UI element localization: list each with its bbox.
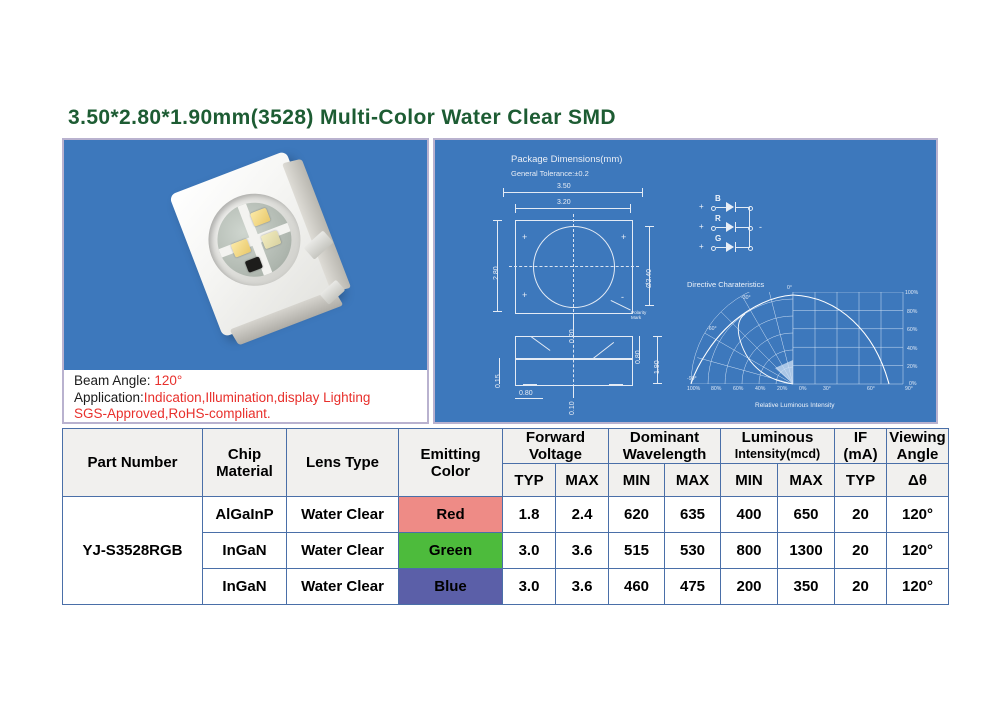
polar-pct-0-right: 0% — [909, 381, 917, 387]
cell-chip-material: AlGaInP — [203, 497, 287, 533]
beam-angle-value: 120° — [154, 373, 182, 388]
dim-tick-dia-top — [645, 226, 654, 227]
drawing-tolerance: General Tolerance:±0.2 — [511, 169, 589, 178]
cell-emitting-color: Green — [399, 533, 503, 569]
dim-value-0-15: 0.15 — [495, 374, 502, 388]
cell-vf-max: 3.6 — [556, 533, 609, 569]
side-foot-right — [609, 384, 623, 385]
cell-vf-typ: 1.8 — [503, 497, 556, 533]
dim-value-0-80-bottom: 0.80 — [519, 390, 533, 397]
dim-line-3-20 — [515, 208, 631, 209]
application-line: Application:Indication,Illumination,disp… — [74, 390, 427, 407]
th-luminous-intensity-l2: Intensity(mcd) — [721, 446, 834, 463]
led-photo-inner — [64, 140, 427, 370]
th-viewing-angle-l2: Angle — [887, 446, 948, 463]
th-luminous-intensity-l1: Luminous — [721, 429, 834, 446]
table-row: YJ-S3528RGB AlGaInP Water Clear Red 1.8 … — [63, 497, 949, 533]
cell-vf-typ: 3.0 — [503, 569, 556, 605]
polarity-mark-label: PolarityMark — [631, 310, 646, 320]
led-symbol-b — [726, 202, 734, 212]
cell-lens-type: Water Clear — [287, 533, 399, 569]
dim-tick-dia-bot — [645, 305, 654, 306]
polar-pct-0-bottom: 0% — [799, 386, 807, 392]
specification-table: Part Number Chip Material Lens Type Emit… — [62, 428, 949, 605]
led-product-photo — [62, 138, 429, 372]
th-wl-max: MAX — [665, 464, 721, 497]
circuit-wire-r-in — [716, 227, 726, 228]
circuit-plus-g: + — [699, 242, 704, 251]
cell-li-max: 1300 — [778, 533, 835, 569]
table-header: Part Number Chip Material Lens Type Emit… — [63, 429, 949, 497]
cell-part-number: YJ-S3528RGB — [63, 497, 203, 605]
polar-pct-40-right: 40% — [907, 346, 917, 352]
circuit-plus-b: + — [699, 202, 704, 211]
th-chip-material: Chip Material — [203, 429, 287, 497]
polar-plot-caption: Relative Luminous Intensity — [755, 402, 835, 409]
dim-tick-320-right — [630, 204, 631, 213]
dim-line-0-80-bottom — [515, 398, 543, 399]
th-vf-typ: TYP — [503, 464, 556, 497]
circuit-wire-b-in — [716, 207, 726, 208]
dim-value-1-90: 1.90 — [654, 360, 661, 374]
th-forward-voltage-l2: Voltage — [503, 446, 608, 463]
dim-value-2-80: 2.80 — [493, 266, 500, 280]
led-die-1 — [250, 208, 271, 227]
polar-top-angle: 0° — [787, 285, 792, 291]
cell-lens-type: Water Clear — [287, 569, 399, 605]
centerline-horizontal — [509, 266, 639, 267]
polar-pct-80-bottom: 80% — [711, 386, 721, 392]
th-if-l1: IF — [835, 429, 886, 446]
dim-tick-350-right — [642, 188, 643, 197]
page-title: 3.50*2.80*1.90mm(3528) Multi-Color Water… — [68, 106, 616, 130]
polar-plot-title: Directive Charateristics — [687, 280, 764, 289]
th-viewing-angle: Viewing Angle — [887, 429, 949, 464]
cell-emitting-color: Blue — [399, 569, 503, 605]
polar-angle-60: 60° — [867, 386, 875, 392]
polarity-plus-top-left: + — [522, 232, 527, 242]
cell-wl-max: 635 — [665, 497, 721, 533]
cell-vf-typ: 3.0 — [503, 533, 556, 569]
led-package-body — [169, 151, 340, 338]
beam-angle-line: Beam Angle: 120° — [74, 373, 427, 390]
lens-circle — [533, 226, 615, 308]
cell-wl-max: 475 — [665, 569, 721, 605]
table-body: YJ-S3528RGB AlGaInP Water Clear Red 1.8 … — [63, 497, 949, 605]
cell-if-typ: 20 — [835, 569, 887, 605]
cell-li-max: 650 — [778, 497, 835, 533]
datasheet-page: 3.50*2.80*1.90mm(3528) Multi-Color Water… — [0, 0, 1000, 720]
th-part-number: Part Number — [63, 429, 203, 497]
side-view-lower — [515, 358, 633, 386]
th-dominant-wavelength-l1: Dominant — [609, 429, 720, 446]
led-symbol-g — [726, 242, 734, 252]
cell-if-typ: 20 — [835, 533, 887, 569]
th-viewing-angle-l1: Viewing — [887, 429, 948, 446]
dim-value-0-80-right: 0.80 — [635, 350, 642, 364]
th-if-l2: (mA) — [835, 446, 886, 463]
cell-wl-min: 515 — [609, 533, 665, 569]
th-viewing-angle-symbol: Δθ — [887, 464, 949, 497]
cell-li-min: 800 — [721, 533, 778, 569]
table-header-row-1: Part Number Chip Material Lens Type Emit… — [63, 429, 949, 464]
polar-angle-minus90: -90° — [687, 376, 697, 382]
led-die-area — [207, 192, 303, 288]
cell-emitting-color: Red — [399, 497, 503, 533]
circuit-wire-g-in — [716, 247, 726, 248]
dim-tick-190-bot — [653, 383, 662, 384]
th-li-max: MAX — [778, 464, 835, 497]
dim-line-0-10 — [573, 386, 574, 398]
cell-viewing-angle: 120° — [887, 497, 949, 533]
dim-line-dia-2-40 — [649, 226, 650, 306]
side-view-upper — [515, 336, 633, 360]
side-centerline — [573, 330, 574, 392]
beam-angle-label: Beam Angle: — [74, 373, 154, 388]
polar-pct-40-bottom: 40% — [755, 386, 765, 392]
cell-viewing-angle: 120° — [887, 569, 949, 605]
polar-pct-100-bottom: 100% — [687, 386, 700, 392]
circuit-node-out-r — [748, 226, 753, 231]
th-if: IF (mA) — [835, 429, 887, 464]
polar-pct-80-right: 80% — [907, 309, 917, 315]
dim-value-3-50: 3.50 — [557, 183, 571, 190]
circuit-wire-b-out — [735, 207, 749, 208]
dim-tick-280-bot — [493, 311, 502, 312]
circuit-node-out-g — [748, 246, 753, 251]
cell-wl-min: 460 — [609, 569, 665, 605]
cell-viewing-angle: 120° — [887, 533, 949, 569]
application-label: Application: — [74, 390, 144, 405]
polar-pct-60-bottom: 60% — [733, 386, 743, 392]
polar-angle-minus60: -60° — [707, 326, 717, 332]
polarity-minus-bottom-right: - — [621, 292, 624, 302]
polar-pct-100-right: 100% — [905, 290, 918, 296]
cell-vf-max: 3.6 — [556, 569, 609, 605]
circuit-wire-r-out — [735, 227, 749, 228]
cell-li-max: 350 — [778, 569, 835, 605]
cell-li-min: 400 — [721, 497, 778, 533]
th-chip-material-l2: Material — [203, 463, 286, 480]
led-symbol-r — [726, 222, 734, 232]
dim-tick-280-top — [493, 220, 502, 221]
dim-tick-320-left — [515, 204, 516, 213]
cell-wl-min: 620 — [609, 497, 665, 533]
directive-characteristics-plot — [689, 292, 929, 396]
side-foot-left — [523, 384, 537, 385]
circuit-node-out-b — [748, 206, 753, 211]
polar-pct-20-right: 20% — [907, 364, 917, 370]
circuit-wire-g-out — [735, 247, 749, 248]
th-emitting-color-l1: Emitting — [399, 446, 502, 463]
th-chip-material-l1: Chip — [203, 446, 286, 463]
th-forward-voltage-l1: Forward — [503, 429, 608, 446]
th-vf-max: MAX — [556, 464, 609, 497]
dim-value-3-20: 3.20 — [557, 199, 571, 206]
cell-chip-material: InGaN — [203, 569, 287, 605]
th-dominant-wavelength-l2: Wavelength — [609, 446, 720, 463]
centerline-vertical — [573, 214, 574, 322]
polar-pct-60-right: 60% — [907, 327, 917, 333]
application-value: Indication,Illumination,display Lighting — [144, 390, 371, 405]
dim-tick-190-top — [653, 336, 662, 337]
dim-line-3-50 — [503, 192, 643, 193]
circuit-plus-r: + — [699, 222, 704, 231]
circuit-label-g: G — [715, 234, 721, 243]
polarity-plus-bottom-left: + — [522, 290, 527, 300]
package-dimensions-drawing: Package Dimensions(mm) General Tolerance… — [433, 138, 938, 424]
polarity-plus-top-right: + — [621, 232, 626, 242]
drawing-title: Package Dimensions(mm) — [511, 154, 622, 165]
polar-angle-minus30: -30° — [741, 295, 751, 301]
polar-pct-20-bottom: 20% — [777, 386, 787, 392]
circuit-minus: - — [759, 222, 762, 232]
cell-lens-type: Water Clear — [287, 497, 399, 533]
th-wl-min: MIN — [609, 464, 665, 497]
th-luminous-intensity: Luminous Intensity(mcd) — [721, 429, 835, 464]
th-emitting-color: Emitting Color — [399, 429, 503, 497]
dim-value-lens-dia: Ø2.40 — [646, 269, 653, 288]
th-emitting-color-l2: Color — [399, 463, 502, 480]
cell-chip-material: InGaN — [203, 533, 287, 569]
circuit-label-b: B — [715, 194, 721, 203]
circuit-label-r: R — [715, 214, 721, 223]
compliance-line: SGS-Approved,RoHS-compliant. — [74, 406, 427, 423]
th-forward-voltage: Forward Voltage — [503, 429, 609, 464]
th-if-typ: TYP — [835, 464, 887, 497]
cell-wl-max: 530 — [665, 533, 721, 569]
caption-box: Beam Angle: 120° Application:Indication,… — [62, 370, 429, 424]
cell-li-min: 200 — [721, 569, 778, 605]
cell-if-typ: 20 — [835, 497, 887, 533]
dim-value-0-10: 0.10 — [569, 401, 576, 415]
dim-tick-350-left — [503, 188, 504, 197]
polar-angle-30: 30° — [823, 386, 831, 392]
cell-vf-max: 2.4 — [556, 497, 609, 533]
th-li-min: MIN — [721, 464, 778, 497]
th-lens-type: Lens Type — [287, 429, 399, 497]
th-dominant-wavelength: Dominant Wavelength — [609, 429, 721, 464]
